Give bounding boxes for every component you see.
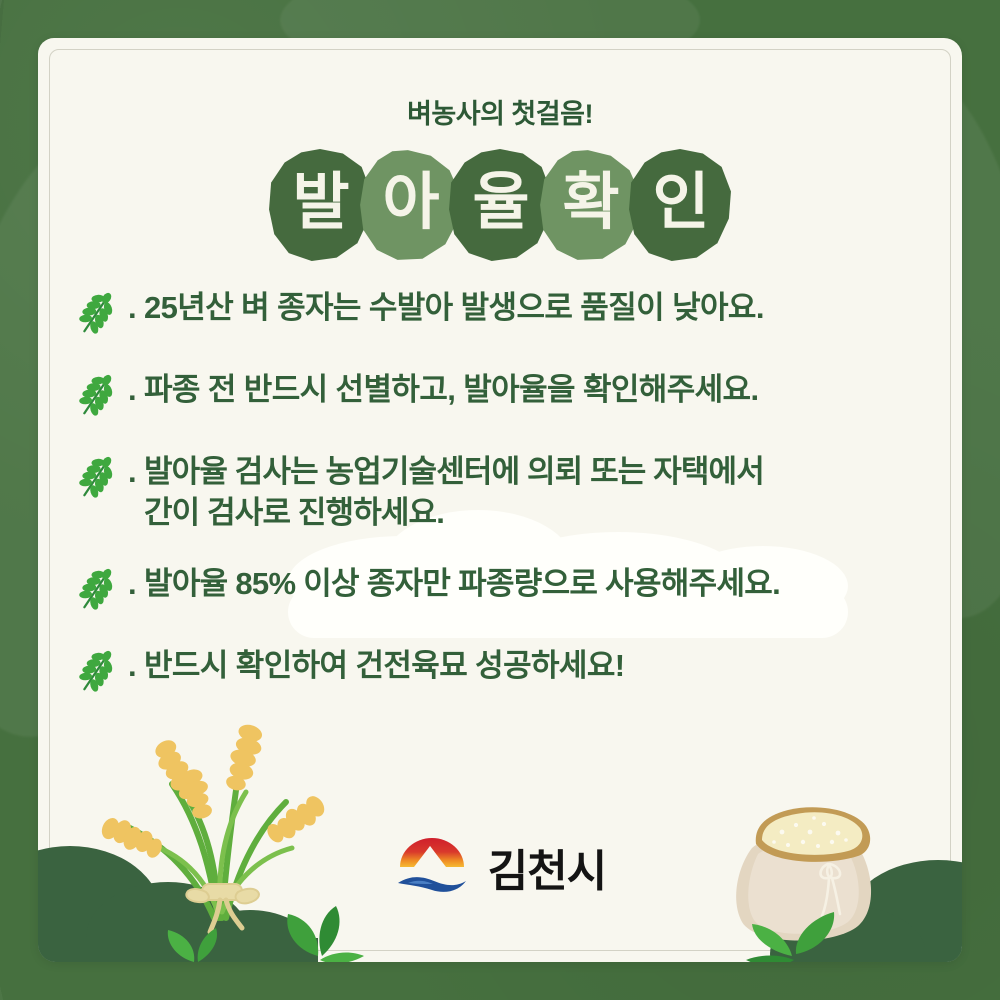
list-item-line: 발아율 검사는 농업기술센터에 의뢰 또는 자택에서 bbox=[144, 454, 764, 489]
list-item: . 25년산 벼 종자는 수발아 발생으로 품질이 낮아요. bbox=[66, 288, 946, 340]
list-item: . 발아율 85% 이상 종자만 파종량으로 사용해주세요. bbox=[66, 564, 946, 616]
gimcheon-city-logo: 김천시 bbox=[38, 833, 962, 900]
list-item-line: 반드시 확인하여 건전육묘 성공하세요! bbox=[144, 648, 624, 683]
list-item-text: 발아율 85% 이상 종자만 파종량으로 사용해주세요. bbox=[144, 564, 780, 605]
title-char: 확 bbox=[562, 172, 617, 238]
list-item: . 파종 전 반드시 선별하고, 발아율을 확인해주세요. bbox=[66, 370, 946, 422]
logo-wordmark: 김천시 bbox=[488, 835, 606, 899]
page-title: 발 아 율 확 인 bbox=[38, 146, 962, 264]
leaf-decoration bbox=[150, 904, 240, 962]
list-item: . 발아율 검사는 농업기술센터에 의뢰 또는 자택에서 간이 검사로 진행하세… bbox=[66, 452, 946, 534]
title-blob: 율 bbox=[448, 149, 552, 261]
title-char: 율 bbox=[472, 172, 527, 238]
list-item-line: 25년산 벼 종자는 수발아 발생으로 품질이 낮아요. bbox=[144, 290, 764, 325]
wheat-stalk-icon bbox=[66, 288, 128, 340]
bullet-marker: . bbox=[128, 370, 144, 411]
title-blob: 인 bbox=[628, 149, 732, 261]
list-item-text: 반드시 확인하여 건전육묘 성공하세요! bbox=[144, 646, 624, 687]
list-item-text: 파종 전 반드시 선별하고, 발아율을 확인해주세요. bbox=[144, 370, 759, 411]
title-blob: 발 bbox=[268, 149, 372, 261]
list-item-line: 발아율 85% 이상 종자만 파종량으로 사용해주세요. bbox=[144, 566, 780, 601]
wheat-stalk-icon bbox=[66, 370, 128, 422]
title-blob: 확 bbox=[538, 149, 642, 261]
bullet-list: . 25년산 벼 종자는 수발아 발생으로 품질이 낮아요. bbox=[66, 288, 946, 698]
list-item-line: 간이 검사로 진행하세요. bbox=[144, 495, 444, 530]
bullet-marker: . bbox=[128, 452, 144, 493]
bullet-marker: . bbox=[128, 564, 144, 605]
list-item: . 반드시 확인하여 건전육묘 성공하세요! bbox=[66, 646, 946, 698]
bullet-marker: . bbox=[128, 288, 144, 329]
title-blob: 아 bbox=[358, 149, 462, 261]
poster-canvas: 벼농사의 첫걸음! 발 아 율 확 인 bbox=[0, 0, 1000, 1000]
list-item-text: 25년산 벼 종자는 수발아 발생으로 품질이 낮아요. bbox=[144, 288, 764, 329]
title-char: 인 bbox=[652, 172, 707, 238]
list-item-line: 파종 전 반드시 선별하고, 발아율을 확인해주세요. bbox=[144, 372, 759, 407]
title-char: 발 bbox=[292, 172, 347, 238]
wheat-stalk-icon bbox=[66, 646, 128, 698]
content-card: 벼농사의 첫걸음! 발 아 율 확 인 bbox=[38, 38, 962, 962]
page-kicker: 벼농사의 첫걸음! bbox=[38, 92, 962, 131]
sun-mountain-wave-icon bbox=[394, 833, 470, 900]
wheat-stalk-icon bbox=[66, 452, 128, 504]
list-item-text: 발아율 검사는 농업기술센터에 의뢰 또는 자택에서 간이 검사로 진행하세요. bbox=[144, 452, 764, 534]
title-char: 아 bbox=[382, 172, 437, 238]
wheat-stalk-icon bbox=[66, 564, 128, 616]
bullet-marker: . bbox=[128, 646, 144, 687]
